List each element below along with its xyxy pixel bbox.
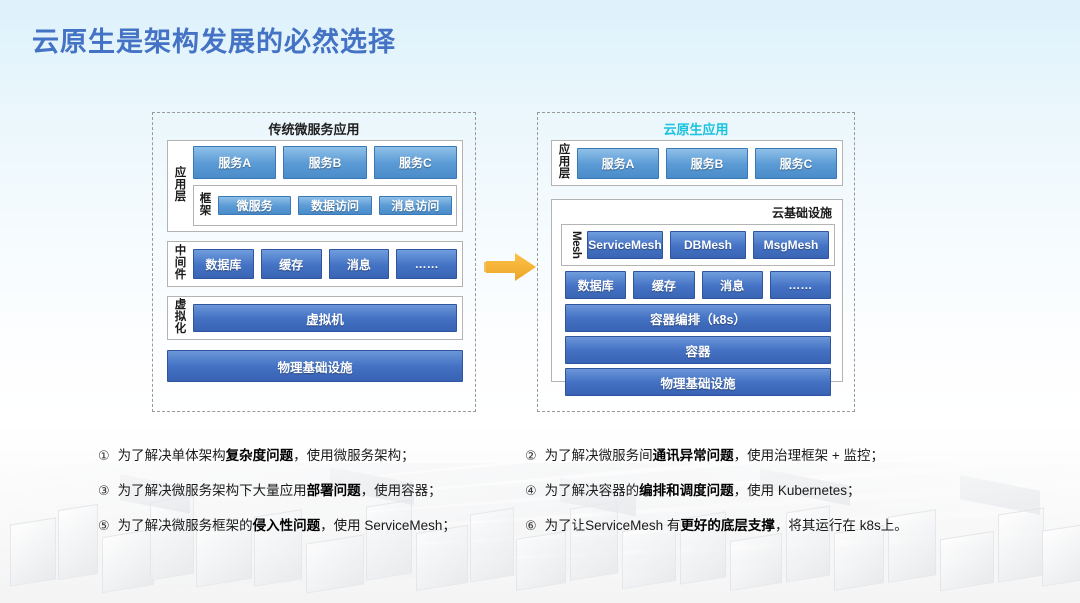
bullet-item: ④ 为了解决容器的编排和调度问题，使用 Kubernetes； [525, 483, 975, 518]
cloud-native-panel: 云原生应用 应用层 服务A 服务B 服务C 框架下沉 云基础设施 Mesh [537, 112, 855, 412]
framework-subgroup: 框架 微服务 数据访问 消息访问 [193, 185, 457, 226]
container-orchestration-bar[interactable]: 容器编排（k8s） [565, 304, 831, 332]
right-panel-title: 云原生应用 [538, 119, 854, 138]
cloud-service-tile[interactable]: 服务B [666, 148, 748, 179]
layer-virtualization: 虚拟化 虚拟机 [167, 296, 463, 340]
mesh-tile[interactable]: MsgMesh [753, 231, 829, 259]
mesh-tile[interactable]: DBMesh [670, 231, 746, 259]
container-bar[interactable]: 容器 [565, 336, 831, 364]
bullet-column-right: ② 为了解决微服务间通讯异常问题，使用治理框架 + 监控； ④ 为了解决容器的编… [525, 448, 975, 553]
cloud-layer-application: 应用层 服务A 服务B 服务C [551, 140, 843, 186]
cloud-service-tile[interactable]: 服务C [755, 148, 837, 179]
layer-label-middleware: 中间件 [173, 246, 188, 281]
bullet-text: 为了解决容器的编排和调度问题，使用 Kubernetes； [545, 483, 975, 500]
framework-tile[interactable]: 消息访问 [379, 196, 452, 215]
service-tiles-row: 服务A 服务B 服务C [193, 146, 457, 179]
bullet-item: ① 为了解决单体架构复杂度问题，使用微服务架构； [98, 448, 528, 483]
page-title: 云原生是架构发展的必然选择 [32, 20, 396, 59]
layer-label-virtualization: 虚拟化 [173, 300, 188, 335]
cloud-middleware-tile[interactable]: …… [770, 271, 831, 299]
framework-tile[interactable]: 微服务 [218, 196, 291, 215]
cloud-middleware-row: 数据库 缓存 消息 …… [565, 271, 831, 299]
cloud-infrastructure-title: 云基础设施 [772, 204, 832, 221]
bullet-number: ⑥ [525, 518, 537, 534]
service-tile[interactable]: 服务A [193, 146, 276, 179]
cloud-infrastructure-box: 云基础设施 Mesh ServiceMesh DBMesh MsgMesh 数据… [551, 199, 843, 382]
bullet-text: 为了解决微服务间通讯异常问题，使用治理框架 + 监控； [545, 448, 975, 465]
bullet-number: ③ [98, 483, 110, 499]
cloud-physical-infrastructure-bar[interactable]: 物理基础设施 [565, 368, 831, 396]
layer-application: 应用层 服务A 服务B 服务C 框架 微服务 数据访问 消息访问 [167, 140, 463, 232]
bullet-number: ⑤ [98, 518, 110, 534]
framework-tile[interactable]: 数据访问 [298, 196, 371, 215]
bullet-item: ⑥ 为了让ServiceMesh 有更好的底层支撑，将其运行在 k8s上。 [525, 518, 975, 553]
bullet-text: 为了解决微服务架构下大量应用部署问题，使用容器； [118, 483, 528, 500]
mesh-row: Mesh ServiceMesh DBMesh MsgMesh [561, 224, 835, 266]
mesh-tile[interactable]: ServiceMesh [587, 231, 663, 259]
bullet-number: ① [98, 448, 110, 464]
bullet-item: ③ 为了解决微服务架构下大量应用部署问题，使用容器； [98, 483, 528, 518]
framework-label: 框架 [198, 194, 213, 217]
cloud-layer-label-application: 应用层 [557, 145, 572, 180]
bullet-item: ② 为了解决微服务间通讯异常问题，使用治理框架 + 监控； [525, 448, 975, 483]
physical-infrastructure-bar[interactable]: 物理基础设施 [167, 350, 463, 382]
middleware-tile[interactable]: 消息 [329, 249, 390, 279]
traditional-microservice-panel: 传统微服务应用 应用层 服务A 服务B 服务C 框架 微服务 数据访问 消息访问 [152, 112, 476, 412]
cloud-middleware-tile[interactable]: 缓存 [633, 271, 694, 299]
virtual-machine-bar[interactable]: 虚拟机 [193, 304, 457, 332]
bullet-text: 为了让ServiceMesh 有更好的底层支撑，将其运行在 k8s上。 [545, 518, 975, 535]
service-tile[interactable]: 服务B [283, 146, 366, 179]
mesh-label: Mesh [567, 231, 582, 258]
service-tile[interactable]: 服务C [374, 146, 457, 179]
bullet-column-left: ① 为了解决单体架构复杂度问题，使用微服务架构； ③ 为了解决微服务架构下大量应… [98, 448, 528, 553]
cloud-middleware-tile[interactable]: 数据库 [565, 271, 626, 299]
middleware-tile[interactable]: 数据库 [193, 249, 254, 279]
bullet-item: ⑤ 为了解决微服务框架的侵入性问题，使用 ServiceMesh； [98, 518, 528, 553]
layer-middleware: 中间件 数据库 缓存 消息 …… [167, 241, 463, 287]
left-panel-title: 传统微服务应用 [153, 119, 475, 138]
bullet-number: ② [525, 448, 537, 464]
bullet-number: ④ [525, 483, 537, 499]
layer-label-application: 应用层 [173, 168, 188, 203]
cloud-service-tile[interactable]: 服务A [577, 148, 659, 179]
transition-arrow-icon [484, 250, 538, 284]
middleware-tile[interactable]: 缓存 [261, 249, 322, 279]
bullet-text: 为了解决单体架构复杂度问题，使用微服务架构； [118, 448, 528, 465]
middleware-tile[interactable]: …… [396, 249, 457, 279]
bullet-text: 为了解决微服务框架的侵入性问题，使用 ServiceMesh； [118, 518, 528, 535]
cloud-middleware-tile[interactable]: 消息 [702, 271, 763, 299]
architecture-diagram: 传统微服务应用 应用层 服务A 服务B 服务C 框架 微服务 数据访问 消息访问 [0, 100, 1080, 430]
